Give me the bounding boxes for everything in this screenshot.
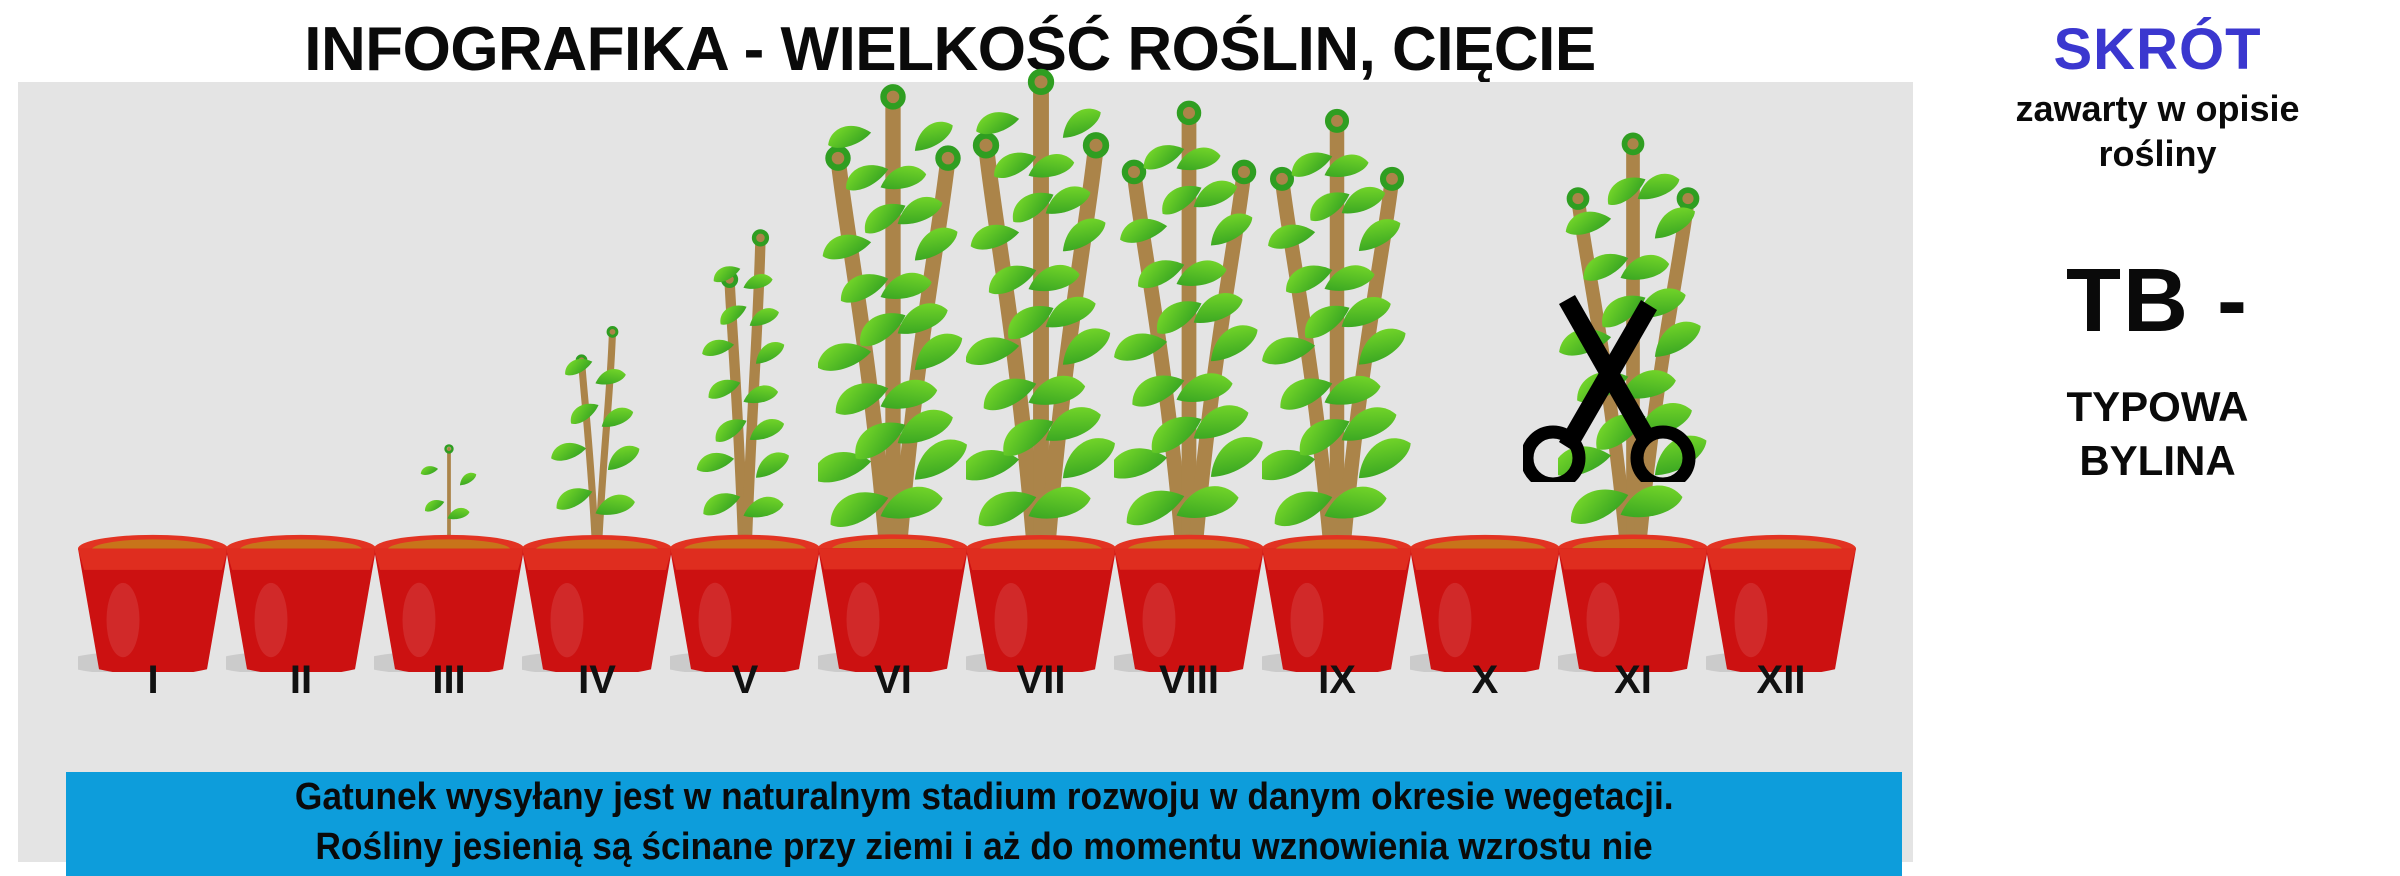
caption-line-1: Gatunek wysyłany jest w naturalnym stadi…: [295, 773, 1674, 823]
legend-abbreviation: TB -: [1915, 250, 2400, 353]
stage-numeral-viii: VIII: [1114, 658, 1264, 703]
stage-numeral-xii: XII: [1706, 658, 1856, 703]
plant-stage-xi: [1558, 82, 1708, 672]
plant-stage-iii: [374, 82, 524, 672]
caption-box: Gatunek wysyłany jest w naturalnym stadi…: [66, 772, 1902, 876]
flower-pot-icon: [1410, 513, 1560, 672]
plant-icon: [966, 60, 1116, 673]
flower-pot-icon: [78, 513, 228, 672]
stage-numeral-vii: VII: [966, 658, 1116, 703]
plant-icon: [374, 427, 524, 672]
stage-numeral-v: V: [670, 658, 820, 703]
stage-numeral-row: IIIIIIIVVVIVIIVIIIIXXXIXII: [18, 658, 1913, 718]
plant-stage-v: [670, 82, 820, 672]
plant-stage-i: [78, 82, 228, 672]
plant-icon: [522, 310, 672, 673]
growth-stage-panel: IIIIIIIVVVIVIIVIIIIXXXIXII Gatunek wysył…: [18, 82, 1913, 862]
plant-stage-x: [1410, 82, 1560, 672]
stage-numeral-ix: IX: [1262, 658, 1412, 703]
plant-stage-iv: [522, 82, 672, 672]
legend-skrot-title: SKRÓT: [1915, 16, 2400, 83]
plant-icon: [818, 75, 968, 672]
stage-numeral-i: I: [78, 658, 228, 703]
plant-stage-ii: [226, 82, 376, 672]
stage-numeral-iii: III: [374, 658, 524, 703]
flower-pot-icon: [226, 513, 376, 672]
plant-icon: [1114, 91, 1264, 672]
plant-stage-viii: [1114, 82, 1264, 672]
stage-numeral-iv: IV: [522, 658, 672, 703]
plant-icon: [670, 216, 820, 672]
plant-stage-vi: [818, 82, 968, 672]
infographic-root: INFOGRAFIKA - WIELKOŚĆ ROŚLIN, CIĘCIE: [0, 0, 2400, 876]
plant-icon: [1558, 122, 1708, 672]
flower-pot-icon: [1706, 513, 1856, 672]
legend-subtitle: zawarty w opisierośliny: [1915, 86, 2400, 176]
plant-stage-row: [18, 82, 1913, 672]
legend-sidebar: SKRÓT zawarty w opisierośliny TB - TYPOW…: [1915, 0, 2400, 876]
legend-meaning: TYPOWABYLINA: [1915, 380, 2400, 488]
plant-stage-xii: [1706, 82, 1856, 672]
plant-icon: [1262, 99, 1412, 672]
stage-numeral-ii: II: [226, 658, 376, 703]
plant-stage-vii: [966, 82, 1116, 672]
stage-numeral-vi: VI: [818, 658, 968, 703]
stage-numeral-xi: XI: [1558, 658, 1708, 703]
stage-numeral-x: X: [1410, 658, 1560, 703]
caption-line-2: Rośliny jesienią są ścinane przy ziemi i…: [315, 823, 1652, 873]
plant-stage-ix: [1262, 82, 1412, 672]
